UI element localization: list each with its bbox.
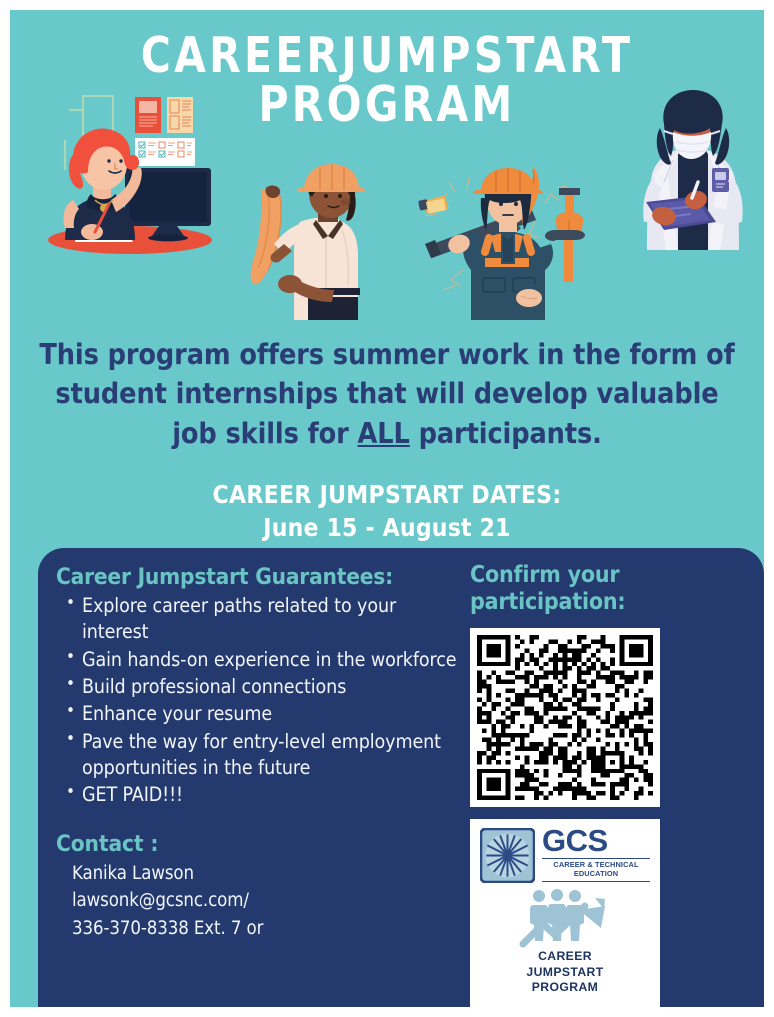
gcs-wordmark: GCS [542,827,650,856]
gcs-divider-bottom [542,881,650,883]
list-item: Pave the way for entry-level employment … [56,729,466,782]
panel-left-column: Career Jumpstart Guarantees: Explore car… [56,564,466,943]
gcs-sunburst-icon [480,828,535,883]
list-item: GET PAID!!! [56,782,466,808]
program-description: This program offers summer work in the f… [32,335,742,453]
logo-caption-line-3: PROGRAM [532,980,598,994]
dates-label: CAREER JUMPSTART DATES: [32,480,742,511]
confirm-participation-heading: Confirm your participation: [470,562,682,616]
gcs-logo-header: GCS CAREER & TECHNICAL EDUCATION [480,827,650,884]
list-item: Gain hands-on experience in the workforc… [56,647,466,673]
qr-code-container[interactable] [470,628,660,807]
contact-phone[interactable]: 336-370-8338 Ext. 7 or [56,915,466,943]
dates-range: June 15 - August 21 [32,511,742,544]
logo-caption-line-1: CAREER [538,949,592,963]
gcs-wordmark-block: GCS CAREER & TECHNICAL EDUCATION [542,827,650,884]
construction-worker-with-pickaxe-illustration [415,162,600,320]
people-growth-arrow-icon [517,888,613,948]
construction-worker-with-blueprint-illustration [238,162,398,320]
guarantees-list: Explore career paths related to your int… [56,593,466,809]
program-dates: CAREER JUMPSTART DATES: June 15 - August… [32,480,742,544]
contact-name: Kanika Lawson [56,860,466,888]
contact-email[interactable]: lawsonk@gcsnc.com/ [56,887,466,915]
flyer-canvas: CAREERJUMPSTART PROGRAM This program off… [10,10,764,1007]
details-panel: Career Jumpstart Guarantees: Explore car… [38,548,764,1007]
description-part-2: participants. [410,417,602,450]
contact-block: Contact : Kanika Lawson lawsonk@gcsnc.co… [56,831,466,943]
flyer-title: CAREERJUMPSTART PROGRAM [10,32,764,129]
guarantees-heading: Career Jumpstart Guarantees: [56,564,466,591]
list-item: Enhance your resume [56,701,466,727]
description-emphasis: ALL [358,417,410,450]
gcs-logo-card: GCS CAREER & TECHNICAL EDUCATION [470,819,660,1007]
title-line-1: CAREERJUMPSTART [36,32,737,81]
logo-caption-line-2: JUMPSTART [526,965,603,979]
panel-right-column: Confirm your participation: GCS [470,562,682,1007]
title-line-2: PROGRAM [36,81,737,130]
list-item: Explore career paths related to your int… [56,593,466,646]
contact-heading: Contact : [56,831,466,857]
gcs-subtitle-line-2: EDUCATION [542,870,650,879]
qr-code-image[interactable] [477,635,653,800]
list-item: Build professional connections [56,674,466,700]
